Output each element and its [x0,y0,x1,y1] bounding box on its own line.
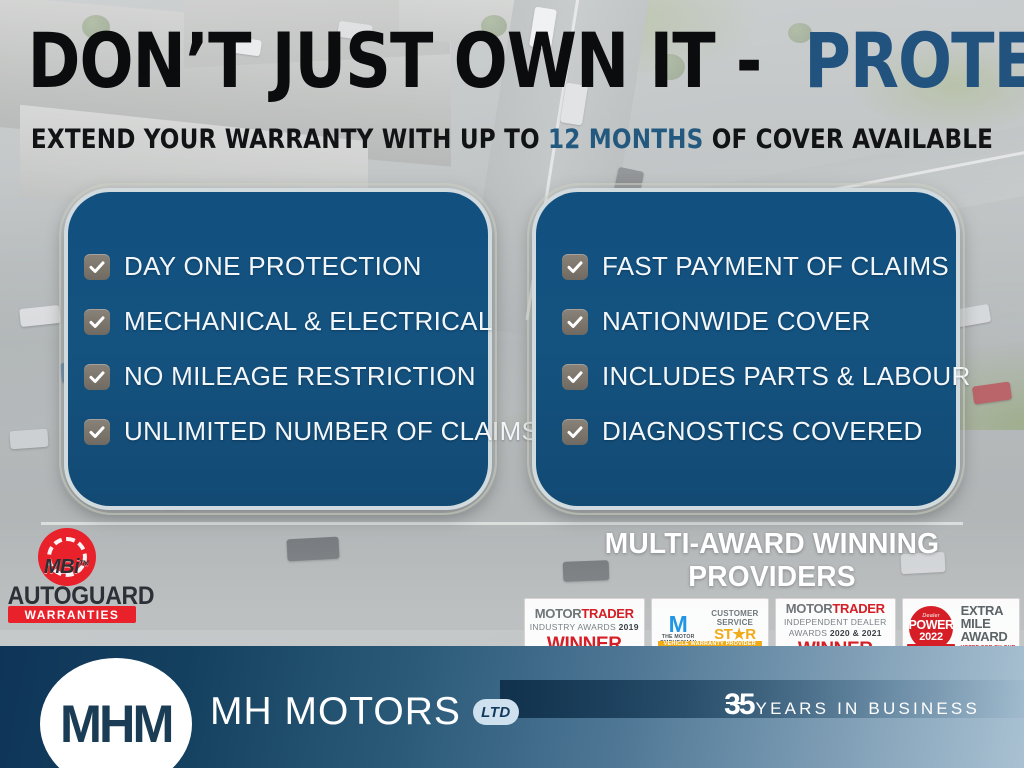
feature-label: FAST PAYMENT OF CLAIMS [602,251,949,282]
feature-label: UNLIMITED NUMBER OF CLAIMS [124,416,539,447]
headline-part-own: DON’T JUST OWN IT - [28,26,762,96]
extra-mile-line-3: AWARD [961,630,1016,643]
feature-label: INCLUDES PARTS & LABOUR [602,361,971,392]
feature-label: DAY ONE PROTECTION [124,251,422,282]
badge-subtitle-awards: AWARDS [789,628,830,638]
feature-label: NO MILEAGE RESTRICTION [124,361,476,392]
badge-brand-motor: MOTOR [786,601,833,616]
badge-brand: MOTORTRADER [529,607,640,620]
autoguard-mbi-mark: MBiTM [44,556,88,579]
company-name-text: MH MOTORS [210,690,461,734]
badge-brand: MOTORTRADER [780,602,891,615]
years-number-text: 35 [724,688,753,721]
awards-section: MULTI-AWARD WINNING PROVIDERS MOTORTRADE… [524,528,1020,663]
feature-item: FAST PAYMENT OF CLAIMS [562,239,934,294]
feature-panels: DAY ONE PROTECTION MECHANICAL & ELECTRIC… [64,188,960,510]
badge-year: 2019 [619,622,639,632]
banner-canvas: DON’T JUST OWN IT - PROTECT IT EXTEND YO… [0,0,1024,768]
feature-label: MECHANICAL & ELECTRICAL [124,306,493,337]
checkmark-icon [84,419,110,445]
checkmark-icon [84,254,110,280]
subheadline-after: OF COVER AVAILABLE [703,124,993,155]
checkmark-icon [84,309,110,335]
badge-brand-trader: TRADER [832,601,884,616]
feature-item: UNLIMITED NUMBER OF CLAIMS [84,404,466,459]
years-number-strike [726,702,751,704]
checkmark-icon [562,309,588,335]
feature-item: DIAGNOSTICS COVERED [562,404,934,459]
years-number: 35 [724,688,753,722]
feature-label: DIAGNOSTICS COVERED [602,416,923,447]
extra-mile-line-1: EXTRA [961,604,1016,617]
extra-mile-line-2: MILE [961,617,1016,630]
ltd-badge: LTD [473,699,519,725]
subheadline-months-highlight: 12 MONTHS [548,124,703,155]
feature-label: NATIONWIDE COVER [602,306,871,337]
feature-item: INCLUDES PARTS & LABOUR [562,349,934,404]
badge-subtitle-line-1: INDEPENDENT DEALER [780,617,891,628]
mhm-logo-mark: MHM [60,694,172,755]
subheadline-before: EXTEND YOUR WARRANTY WITH UP TO [31,124,548,155]
autoguard-mbi-text: MBi [44,556,79,578]
badge-subtitle-line-2: AWARDS 2020 & 2021 [780,628,891,639]
feature-item: MECHANICAL & ELECTRICAL [84,294,466,349]
years-in-business: 35 YEARS IN BUSINESS [724,688,980,722]
mhm-logo: MHM [40,658,192,768]
headline: DON’T JUST OWN IT - PROTECT IT [0,26,1024,96]
badge-subtitle: INDUSTRY AWARDS 2019 [529,622,640,633]
feature-item: DAY ONE PROTECTION [84,239,466,294]
company-name: MH MOTORS LTD [210,690,519,734]
years-label: YEARS IN BUSINESS [756,699,980,719]
autoguard-tagline: WARRANTIES [8,606,136,623]
checkmark-icon [562,254,588,280]
mbi-autoguard-logo: MBiTM AUTOGUARD WARRANTIES [8,528,140,624]
dealer-power-word: POWER [908,619,953,632]
feature-panel-right: FAST PAYMENT OF CLAIMS NATIONWIDE COVER … [532,188,960,510]
cs-star-icon: ST★R [705,627,765,642]
subheadline: EXTEND YOUR WARRANTY WITH UP TO 12 MONTH… [26,124,999,155]
checkmark-icon [562,364,588,390]
checkmark-icon [562,419,588,445]
footer-bar: MHM MH MOTORS LTD 35 YEARS IN BUSINESS [0,646,1024,768]
badge-subtitle-text: INDUSTRY AWARDS [530,622,619,632]
badge-brand-trader: TRADER [581,606,633,621]
ombudsman-logo-icon: M [669,614,688,635]
feature-item: NATIONWIDE COVER [562,294,934,349]
awards-title: MULTI-AWARD WINNING PROVIDERS [531,528,1012,594]
dealer-power-year: 2022 [919,632,943,643]
badge-year: 2020 & 2021 [830,628,882,638]
autoguard-tm: TM [79,560,88,567]
headline-part-protect: PROTECT IT [804,26,1024,96]
checkmark-icon [84,364,110,390]
badge-brand-motor: MOTOR [535,606,582,621]
feature-item: NO MILEAGE RESTRICTION [84,349,466,404]
feature-panel-left: DAY ONE PROTECTION MECHANICAL & ELECTRIC… [64,188,492,510]
